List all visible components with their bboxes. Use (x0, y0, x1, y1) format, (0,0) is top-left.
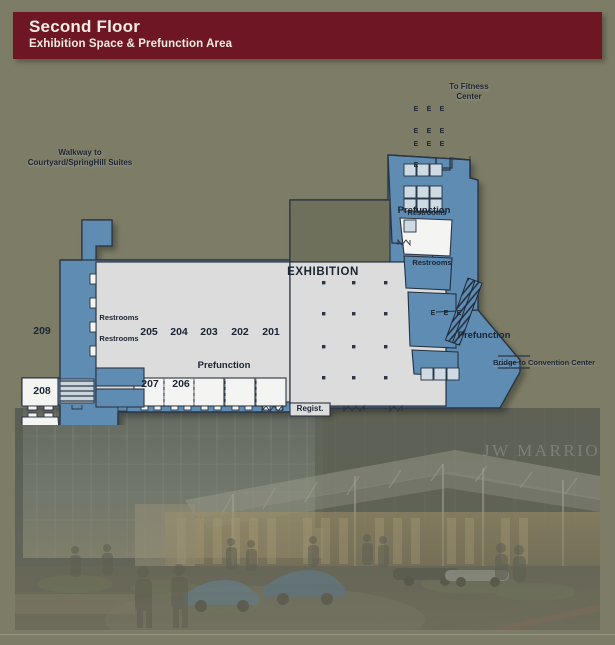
svg-text:JW MARRIOTT: JW MARRIOTT (483, 441, 600, 460)
page-header-banner: Second Floor Exhibition Space & Prefunct… (13, 12, 602, 59)
page-subtitle: Exhibition Space & Prefunction Area (29, 38, 232, 50)
footer-divider (0, 634, 615, 635)
hotel-exterior-photo: JW MARRIOTT (15, 408, 600, 630)
floor-plan-map: EXHIBITION Regist. Prefunction Prefuncti… (0, 60, 615, 425)
page-title: Second Floor (29, 17, 140, 37)
